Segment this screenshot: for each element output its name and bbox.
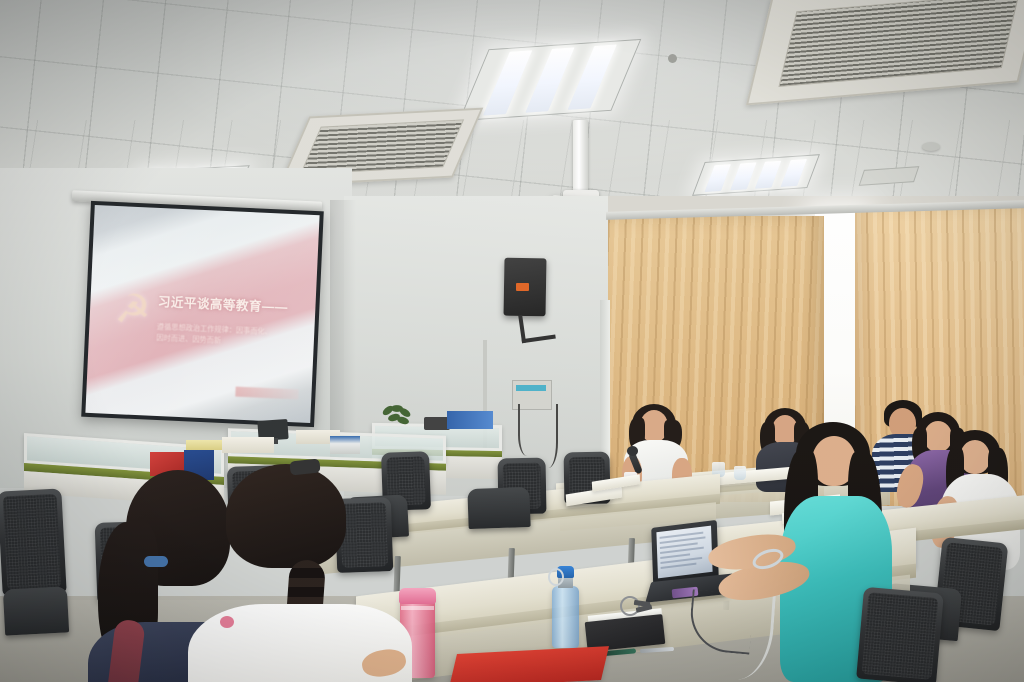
paper-stack <box>186 440 226 450</box>
screen-glare <box>85 205 319 423</box>
projection-screen: ☭ 习近平谈高等教育—— 遵循思想政治工作规律：因事而化、 因时而进、因势而新 <box>81 201 324 427</box>
hanging-cable <box>518 404 540 456</box>
ac-grille <box>300 119 464 174</box>
hair-tie <box>144 556 168 567</box>
folder-stack <box>330 436 360 454</box>
light-tube <box>483 50 532 115</box>
light-tube <box>730 162 757 190</box>
chair[interactable] <box>0 488 67 595</box>
chair-mesh-back <box>340 502 388 568</box>
lace-floral-detail <box>220 616 234 628</box>
light-tube <box>568 44 617 109</box>
av-wall-plate-strip <box>516 385 546 391</box>
chair[interactable] <box>856 587 944 682</box>
pink-bottle-cap <box>399 588 436 604</box>
pink-bottle-ring <box>401 606 434 610</box>
blue-bottle-loop <box>548 568 564 586</box>
keys[interactable] <box>620 594 660 614</box>
chair[interactable] <box>3 586 69 635</box>
blue-sports-bottle[interactable] <box>552 586 579 648</box>
chair-mesh-back <box>862 592 939 680</box>
light-tube <box>525 47 574 112</box>
head <box>924 421 952 452</box>
hair <box>226 464 346 568</box>
potted-plant <box>380 405 414 427</box>
blue-file-folders <box>447 411 493 429</box>
head <box>960 440 990 474</box>
light-tube <box>755 160 782 188</box>
paper-stack <box>222 437 274 453</box>
light-tube <box>780 158 807 186</box>
projection-screen-surface: ☭ 习近平谈高等教育—— 遵循思想政治工作规律：因事而化、 因时而进、因势而新 <box>85 205 319 423</box>
microphone-head-icon <box>627 446 638 456</box>
laptop-display <box>656 526 712 579</box>
screen-text-line <box>661 563 697 569</box>
key-ring-icon <box>620 596 640 616</box>
ac-grille <box>778 0 1019 87</box>
meeting-room-photo: ☭ 习近平谈高等教育—— 遵循思想政治工作规律：因事而化、 因时而进、因势而新 <box>0 0 1024 682</box>
speaker-wall-bracket <box>518 311 556 343</box>
chair-mesh-back <box>3 494 62 591</box>
smoke-detector-icon <box>922 142 940 151</box>
drinking-glass <box>734 466 746 480</box>
speaker-brand-logo <box>516 283 529 291</box>
sprinkler-head-icon <box>668 54 677 63</box>
chair[interactable] <box>467 487 530 529</box>
light-tube <box>705 164 732 192</box>
projector-pole-mount <box>573 120 588 198</box>
